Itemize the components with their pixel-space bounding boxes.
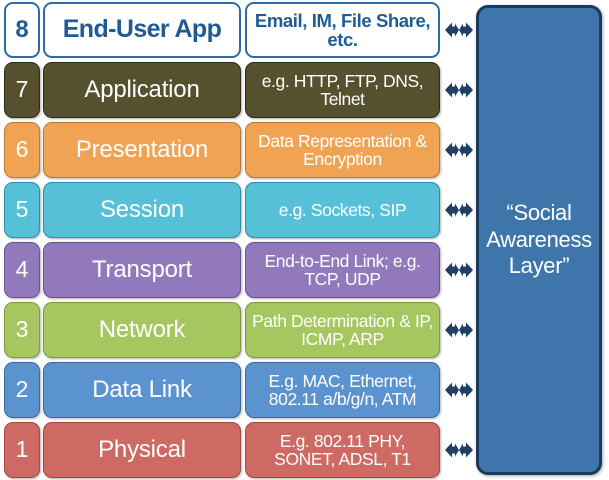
layer-description-cell: Data Representation & Encryption [245, 122, 440, 178]
social-awareness-layer-label: “Social Awareness Layer” [479, 200, 599, 280]
double-headed-arrow-icon [445, 201, 473, 219]
arrow-slot [443, 240, 475, 300]
layer-number-badge: 4 [4, 242, 40, 298]
layer-row: 5Sessione.g. Sockets, SIP [4, 180, 440, 240]
layer-name-cell: Application [43, 62, 241, 118]
layer-number-badge: 2 [4, 362, 40, 418]
layer-number-badge: 6 [4, 122, 40, 178]
layer-number-badge: 5 [4, 182, 40, 238]
layer-name-cell: Transport [43, 242, 241, 298]
layer-number-badge: 1 [4, 422, 40, 478]
double-headed-arrow-icon [445, 321, 473, 339]
layer-row: 6PresentationData Representation & Encry… [4, 120, 440, 180]
layer-name-cell: Network [43, 302, 241, 358]
layer-row: 8End-User AppEmail, IM, File Share, etc. [4, 0, 440, 60]
double-headed-arrow-icon [445, 441, 473, 459]
layer-row: 2Data LinkE.g. MAC, Ethernet, 802.11 a/b… [4, 360, 440, 420]
arrow-slot [443, 180, 475, 240]
layer-description-cell: E.g. 802.11 PHY, SONET, ADSL, T1 [245, 422, 440, 478]
layer-row: 4TransportEnd-to-End Link; e.g. TCP, UDP [4, 240, 440, 300]
layer-name-cell: Data Link [43, 362, 241, 418]
arrow-column [443, 0, 475, 480]
arrow-slot [443, 60, 475, 120]
arrow-slot [443, 420, 475, 480]
double-headed-arrow-icon [445, 81, 473, 99]
layer-description-cell: Path Determination & IP, ICMP, ARP [245, 302, 440, 358]
layer-stack: 8End-User AppEmail, IM, File Share, etc.… [4, 0, 440, 480]
layer-number-badge: 8 [4, 2, 40, 58]
layer-description-cell: End-to-End Link; e.g. TCP, UDP [245, 242, 440, 298]
arrow-slot [443, 300, 475, 360]
double-headed-arrow-icon [445, 21, 473, 39]
double-headed-arrow-icon [445, 141, 473, 159]
layer-description-cell: e.g. HTTP, FTP, DNS, Telnet [245, 62, 440, 118]
layer-number-badge: 7 [4, 62, 40, 118]
layer-name-cell: Physical [43, 422, 241, 478]
osi-layer-diagram: 8End-User AppEmail, IM, File Share, etc.… [0, 0, 609, 480]
arrow-slot [443, 360, 475, 420]
layer-name-cell: Presentation [43, 122, 241, 178]
layer-row: 1PhysicalE.g. 802.11 PHY, SONET, ADSL, T… [4, 420, 440, 480]
layer-row: 7Applicatione.g. HTTP, FTP, DNS, Telnet [4, 60, 440, 120]
double-headed-arrow-icon [445, 261, 473, 279]
layer-description-cell: Email, IM, File Share, etc. [245, 2, 440, 58]
social-awareness-layer-panel: “Social Awareness Layer” [476, 5, 602, 475]
layer-name-cell: End-User App [43, 2, 241, 58]
arrow-slot [443, 120, 475, 180]
arrow-slot [443, 0, 475, 60]
layer-description-cell: E.g. MAC, Ethernet, 802.11 a/b/g/n, ATM [245, 362, 440, 418]
layer-number-badge: 3 [4, 302, 40, 358]
double-headed-arrow-icon [445, 381, 473, 399]
layer-row: 3NetworkPath Determination & IP, ICMP, A… [4, 300, 440, 360]
layer-name-cell: Session [43, 182, 241, 238]
layer-description-cell: e.g. Sockets, SIP [245, 182, 440, 238]
